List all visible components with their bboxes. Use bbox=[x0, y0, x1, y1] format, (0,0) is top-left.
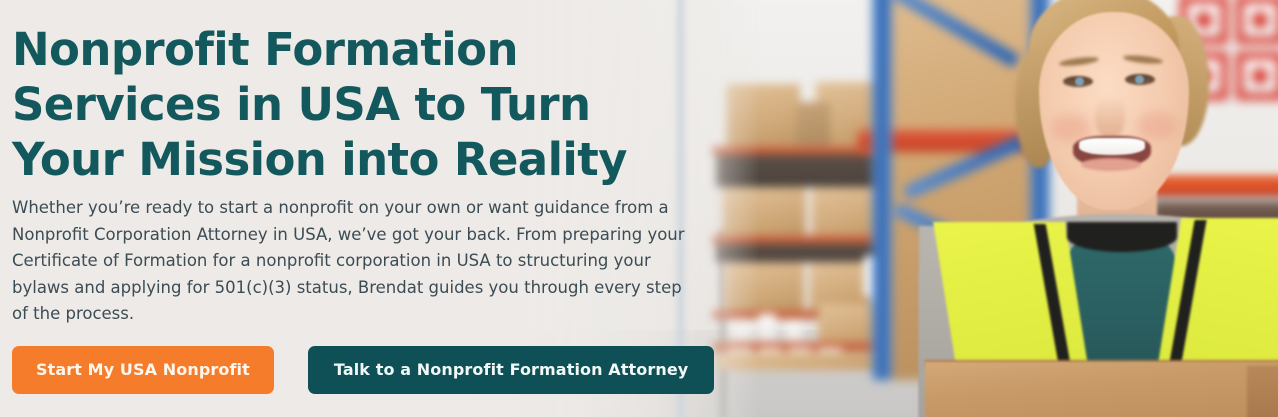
iris-right bbox=[1135, 75, 1144, 84]
teeth bbox=[1079, 138, 1145, 155]
page-title: Nonprofit Formation Services in USA to T… bbox=[12, 22, 684, 187]
cardboard-box-side bbox=[1247, 366, 1278, 417]
hero-section: Nonprofit Formation Services in USA to T… bbox=[0, 0, 1278, 417]
iris-left bbox=[1075, 77, 1084, 86]
warehouse-worker bbox=[955, 0, 1278, 417]
nose bbox=[1095, 96, 1125, 138]
hero-content: Nonprofit Formation Services in USA to T… bbox=[12, 22, 692, 394]
talk-to-attorney-button[interactable]: Talk to a Nonprofit Formation Attorney bbox=[308, 346, 714, 394]
hero-description: Whether you’re ready to start a nonprofi… bbox=[12, 195, 688, 328]
lower-lip bbox=[1081, 158, 1141, 171]
cta-button-row: Start My USA Nonprofit Talk to a Nonprof… bbox=[12, 346, 692, 394]
vest-collar bbox=[1067, 222, 1177, 252]
cardboard-box bbox=[925, 362, 1278, 417]
cheek-right bbox=[1137, 112, 1177, 140]
start-nonprofit-button[interactable]: Start My USA Nonprofit bbox=[12, 346, 274, 394]
